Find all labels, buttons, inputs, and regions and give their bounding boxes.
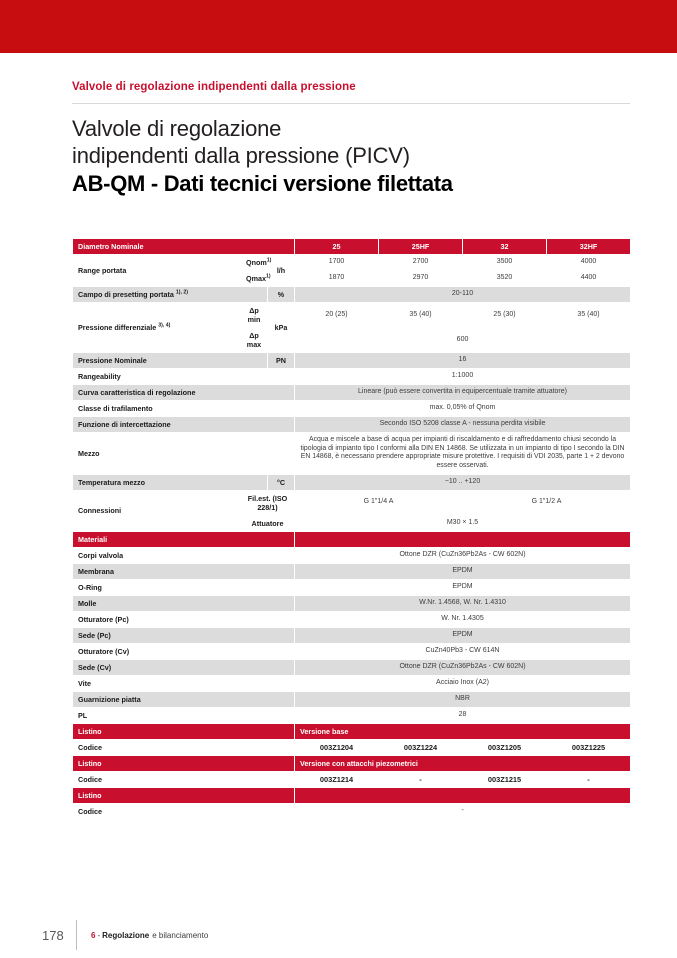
row-label-sede-pc: Sede (Pc) [73, 627, 295, 643]
qnom-superscript: 1) [267, 258, 272, 264]
cell-membrana-value: EPDM [295, 563, 631, 579]
listino-2-version: Versione con attacchi piezometrici [295, 755, 631, 771]
top-red-banner [0, 0, 677, 53]
cell-qnom-0: 1700 [295, 255, 379, 271]
cell-otturatore-pc-value: W. Nr. 1.4305 [295, 611, 631, 627]
cell-sede-pc-value: EPDM [295, 627, 631, 643]
cell-curva-value: Lineare (può essere convertita in equipe… [295, 385, 631, 401]
cell-trafilamento-value: max. 0,05% of Qnom [295, 401, 631, 417]
table-row: Vite Acciaio Inox (A2) [73, 675, 631, 691]
cell-codice-2-1: - [379, 771, 463, 787]
sub-label-qmax: Qmax1) [241, 271, 268, 287]
cell-pressione-nominale-value: 16 [295, 353, 631, 369]
cell-temperatura-value: −10 .. +120 [295, 474, 631, 490]
row-label-pressione-differenziale: Pressione differenziale 3), 4) [73, 303, 241, 353]
cell-qmax-2: 3520 [463, 271, 547, 287]
cell-qnom-1: 2700 [379, 255, 463, 271]
page-footer: 178 6 - Regolazione e bilanciamento [42, 925, 602, 945]
listino-1-version: Versione base [295, 723, 631, 739]
cell-qmax-0: 1870 [295, 271, 379, 287]
footer-chapter-bold: Regolazione [102, 931, 149, 940]
listino-2-label: Listino [73, 755, 295, 771]
sub-label-dp-min: Δp min [241, 303, 268, 328]
cell-o-ring-value: EPDM [295, 579, 631, 595]
unit-pressione-differenziale: kPa [268, 303, 295, 353]
table-row: Otturatore (Pc) W. Nr. 1.4305 [73, 611, 631, 627]
cell-dpmin-0: 20 (25) [295, 303, 379, 328]
table-row: Corpi valvola Ottone DZR (CuZn36Pb2As - … [73, 547, 631, 563]
row-label-pl: PL [73, 707, 295, 723]
row-label-sede-cv: Sede (Cv) [73, 659, 295, 675]
table-row: Pressione Nominale PN 16 [73, 353, 631, 369]
row-label-o-ring: O-Ring [73, 579, 295, 595]
row-label-trafilamento: Classe di trafilamento [73, 401, 295, 417]
table-row: Curva caratteristica di regolazione Line… [73, 385, 631, 401]
header-col-3: 32HF [547, 239, 631, 255]
page-number: 178 [42, 928, 76, 943]
cell-vite-value: Acciaio Inox (A2) [295, 675, 631, 691]
unit-pressione-nominale: PN [268, 353, 295, 369]
section-bar-listino-2: Listino Versione con attacchi piezometri… [73, 755, 631, 771]
footer-chapter-number: 6 [91, 931, 95, 940]
table-row: Sede (Pc) EPDM [73, 627, 631, 643]
cell-qmax-1: 2970 [379, 271, 463, 287]
cell-attuatore-value: M30 × 1.5 [295, 515, 631, 531]
cell-mezzo-value: Acqua e miscele a base di acqua per impi… [295, 433, 631, 475]
eyebrow-text: Valvole di regolazione indipendenti dall… [72, 80, 630, 95]
page: Valvole di regolazione indipendenti dall… [0, 0, 677, 958]
cell-dpmin-2: 25 (30) [463, 303, 547, 328]
unit-temperatura: °C [268, 474, 295, 490]
section-bar-filler [295, 531, 631, 547]
cell-codice-2-0: 003Z1214 [295, 771, 379, 787]
row-label-curva: Curva caratteristica di regolazione [73, 385, 295, 401]
cell-dpmin-1: 35 (40) [379, 303, 463, 328]
table-row: Pressione differenziale 3), 4) Δp min kP… [73, 303, 631, 328]
header-divider [72, 103, 630, 104]
sub-label-qnom: Qnom1) [241, 255, 268, 271]
row-label-temperatura: Temperatura mezzo [73, 474, 268, 490]
sub-label-dp-max: Δp max [241, 328, 268, 353]
table-row: Molle W.Nr. 1.4568, W. Nr. 1.4310 [73, 595, 631, 611]
row-label-guarnizione-piatta: Guarnizione piatta [73, 691, 295, 707]
listino-1-label: Listino [73, 723, 295, 739]
footer-chapter-rest: e bilanciamento [152, 931, 208, 940]
row-label-corpi-valvola: Corpi valvola [73, 547, 295, 563]
header-block: Valvole di regolazione indipendenti dall… [72, 80, 630, 199]
presetting-superscript: 1), 2) [176, 290, 188, 296]
table-header-row: Diametro Nominale 25 25HF 32 32HF [73, 239, 631, 255]
header-col-2: 32 [463, 239, 547, 255]
header-col-0: 25 [295, 239, 379, 255]
footer-divider [76, 920, 77, 950]
table-row: Classe di trafilamento max. 0,05% of Qno… [73, 401, 631, 417]
cell-qmax-3: 4400 [547, 271, 631, 287]
cell-codice-1-2: 003Z1205 [463, 739, 547, 755]
table-row: O-Ring EPDM [73, 579, 631, 595]
row-label-intercettazione: Funzione di intercettazione [73, 417, 295, 433]
footer-separator: - [97, 931, 100, 940]
codice-3-label: Codice [73, 804, 295, 820]
row-label-mezzo: Mezzo [73, 433, 295, 475]
row-label-presetting: Campo di presetting portata 1), 2) [73, 287, 268, 303]
header-label: Diametro Nominale [73, 239, 295, 255]
table-row: Otturatore (Cv) CuZn40Pb3 - CW 614N [73, 643, 631, 659]
listino-3-version [295, 788, 631, 804]
cell-dpmax-value: 600 [295, 328, 631, 353]
cell-dpmin-3: 35 (40) [547, 303, 631, 328]
cell-molle-value: W.Nr. 1.4568, W. Nr. 1.4310 [295, 595, 631, 611]
cell-codice-2-2: 003Z1215 [463, 771, 547, 787]
section-bar-materiali: Materiali [73, 531, 631, 547]
table-row: Temperatura mezzo °C −10 .. +120 [73, 474, 631, 490]
codice-2-label: Codice [73, 771, 295, 787]
row-label-pressione-nominale: Pressione Nominale [73, 353, 268, 369]
pressione-diff-superscript: 3), 4) [158, 323, 170, 329]
section-bar-listino-1: Listino Versione base [73, 723, 631, 739]
row-label-membrana: Membrana [73, 563, 295, 579]
table-row: Funzione di intercettazione Secondo ISO … [73, 417, 631, 433]
cell-otturatore-cv-value: CuZn40Pb3 - CW 614N [295, 643, 631, 659]
footer-chapter: 6 - Regolazione e bilanciamento [91, 931, 208, 940]
cell-filettatura-right: G 1"1/2 A [463, 490, 631, 515]
table-row: Codice 003Z1214 - 003Z1215 - [73, 771, 631, 787]
row-label-range-portata: Range portata [73, 255, 241, 287]
table-row: Mezzo Acqua e miscele a base di acqua pe… [73, 433, 631, 475]
cell-codice-2-3: - [547, 771, 631, 787]
table-row: Codice 003Z1204 003Z1224 003Z1205 003Z12… [73, 739, 631, 755]
qmax-superscript: 1) [266, 274, 271, 280]
cell-guarnizione-piatta-value: NBR [295, 691, 631, 707]
page-title-line-1: Valvole di regolazione [72, 116, 630, 143]
row-label-otturatore-pc: Otturatore (Pc) [73, 611, 295, 627]
table-row: Sede (Cv) Ottone DZR (CuZn36Pb2As - CW 6… [73, 659, 631, 675]
cell-qnom-3: 4000 [547, 255, 631, 271]
table-row: Membrana EPDM [73, 563, 631, 579]
cell-sede-cv-value: Ottone DZR (CuZn36Pb2As - CW 602N) [295, 659, 631, 675]
row-label-molle: Molle [73, 595, 295, 611]
cell-pl-value: 28 [295, 707, 631, 723]
section-bar-listino-3: Listino [73, 788, 631, 804]
page-title-line-2: indipendenti dalla pressione (PICV) [72, 143, 630, 170]
row-label-vite: Vite [73, 675, 295, 691]
cell-codice-1-0: 003Z1204 [295, 739, 379, 755]
header-col-1: 25HF [379, 239, 463, 255]
cell-qnom-2: 3500 [463, 255, 547, 271]
table-row: Campo di presetting portata 1), 2) % 20-… [73, 287, 631, 303]
cell-codice-1-3: 003Z1225 [547, 739, 631, 755]
table-row: Rangeability 1:1000 [73, 369, 631, 385]
row-label-otturatore-cv: Otturatore (Cv) [73, 643, 295, 659]
cell-intercettazione-value: Secondo ISO 5208 classe A - nessuna perd… [295, 417, 631, 433]
row-label-connessioni: Connessioni [73, 490, 241, 531]
cell-filettatura-left: G 1"1/4 A [295, 490, 463, 515]
table-row: Connessioni Fil.est. (ISO 228/1) G 1"1/4… [73, 490, 631, 515]
cell-presetting-value: 20-110 [295, 287, 631, 303]
unit-presetting: % [268, 287, 295, 303]
row-label-rangeability: Rangeability [73, 369, 295, 385]
table-row: Range portata Qnom1) l/h 1700 2700 3500 … [73, 255, 631, 271]
codice-1-label: Codice [73, 739, 295, 755]
sub-label-attuatore: Attuatore [241, 515, 295, 531]
sub-label-filettatura: Fil.est. (ISO 228/1) [241, 490, 295, 515]
section-bar-label: Materiali [73, 531, 295, 547]
technical-data-table: Diametro Nominale 25 25HF 32 32HF Range … [72, 238, 631, 820]
table-row: Codice - [73, 804, 631, 820]
listino-3-label: Listino [73, 788, 295, 804]
table-row: Guarnizione piatta NBR [73, 691, 631, 707]
cell-corpi-valvola-value: Ottone DZR (CuZn36Pb2As - CW 602N) [295, 547, 631, 563]
cell-codice-3-merged: - [295, 804, 631, 820]
page-title-line-3: AB-QM - Dati tecnici versione filettata [72, 170, 630, 198]
unit-range-portata: l/h [268, 255, 295, 287]
table-row: PL 28 [73, 707, 631, 723]
cell-codice-1-1: 003Z1224 [379, 739, 463, 755]
cell-rangeability-value: 1:1000 [295, 369, 631, 385]
